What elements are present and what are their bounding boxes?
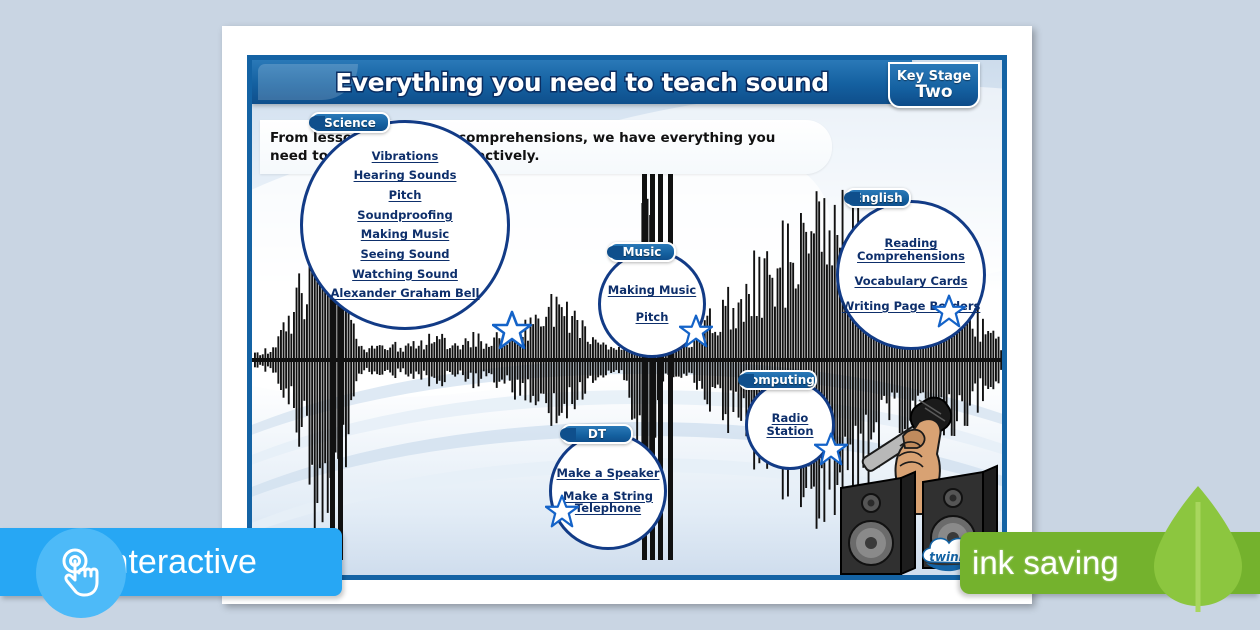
poster-frame: Everything you need to teach sound Key S… — [247, 55, 1007, 580]
key-stage-badge: Key Stage Two — [888, 62, 980, 108]
poster-canvas: Everything you need to teach sound Key S… — [252, 60, 1002, 575]
bubble-tag-dt: DT — [561, 424, 633, 444]
bubble-item[interactable]: Making Music — [361, 228, 449, 241]
bubble-item[interactable]: Alexander Graham Bell — [331, 287, 480, 300]
star-icon — [932, 294, 966, 328]
bubble-item[interactable]: Pitch — [389, 189, 422, 202]
bubble-tag-science: Science — [310, 112, 390, 133]
speaker-icon — [841, 472, 915, 574]
star-icon — [545, 494, 579, 528]
bubble-item[interactable]: Vibrations — [372, 150, 439, 163]
bubble-item[interactable]: Making Music — [608, 284, 696, 297]
tap-icon-circle[interactable] — [36, 528, 126, 618]
bubble-item[interactable]: Make a Speaker — [557, 467, 660, 480]
bubble-tag-music: Music — [608, 242, 676, 262]
ink-saving-label: ink saving — [972, 544, 1119, 582]
page-title: Everything you need to teach sound — [252, 60, 912, 104]
screenshot-root: Everything you need to teach sound Key S… — [0, 0, 1260, 630]
bubble-item[interactable]: Hearing Sounds — [354, 169, 457, 182]
bubble-item[interactable]: Soundproofing — [357, 209, 452, 222]
bubble-item[interactable]: Reading Comprehensions — [839, 237, 983, 263]
leaf-icon — [1150, 484, 1246, 612]
bubble-item[interactable]: Vocabulary Cards — [855, 275, 968, 288]
bubble-item[interactable]: Pitch — [636, 311, 669, 324]
bubble-tag-computing: Computing — [739, 370, 817, 390]
key-stage-line2: Two — [915, 84, 952, 101]
bubble-item[interactable]: Seeing Sound — [360, 248, 449, 261]
bubble-tag-english: English — [845, 188, 911, 208]
star-icon — [679, 314, 713, 348]
tap-hand-icon — [52, 544, 110, 602]
bubble-science[interactable]: Vibrations Hearing Sounds Pitch Soundpro… — [300, 120, 510, 330]
bubble-item[interactable]: Watching Sound — [352, 268, 458, 281]
bubble-dt[interactable]: Make a Speaker Make a String Telephone — [549, 432, 667, 550]
star-icon — [814, 432, 848, 466]
key-stage-line1: Key Stage — [897, 70, 971, 83]
star-icon — [492, 310, 532, 350]
